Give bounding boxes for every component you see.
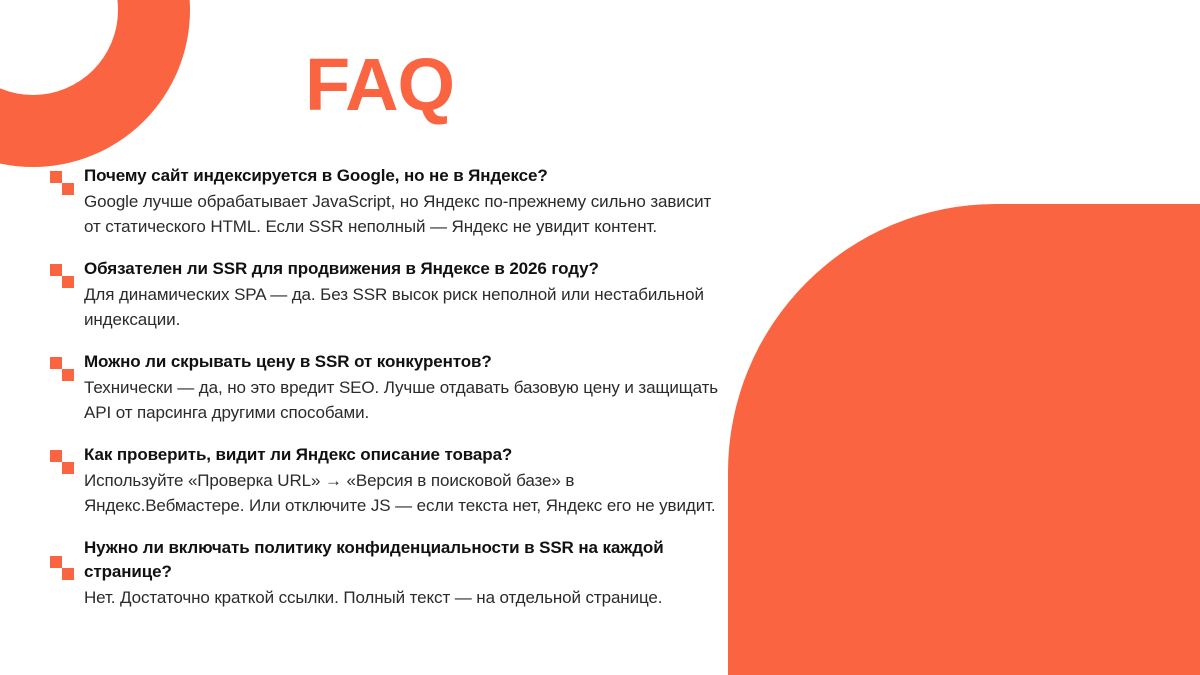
faq-item: Обязателен ли SSR для продвижения в Янде… xyxy=(48,257,728,332)
faq-item: Как проверить, видит ли Яндекс описание … xyxy=(48,443,728,518)
double-square-bullet-icon xyxy=(50,556,76,582)
faq-answer: Используйте «Проверка URL» → «Версия в п… xyxy=(84,468,728,518)
faq-question: Почему сайт индексируется в Google, но н… xyxy=(84,164,728,188)
faq-question: Нужно ли включать политику конфиденциаль… xyxy=(84,536,728,584)
faq-question: Как проверить, видит ли Яндекс описание … xyxy=(84,443,728,467)
double-square-bullet-icon xyxy=(50,357,76,383)
faq-item: Почему сайт индексируется в Google, но н… xyxy=(48,164,728,239)
double-square-bullet-icon xyxy=(50,450,76,476)
faq-answer: Технически — да, но это вредит SEO. Лучш… xyxy=(84,375,728,425)
faq-question: Обязателен ли SSR для продвижения в Янде… xyxy=(84,257,728,281)
page-title: FAQ xyxy=(305,48,454,122)
double-square-bullet-icon xyxy=(50,171,76,197)
faq-item: Нужно ли включать политику конфиденциаль… xyxy=(48,536,728,610)
rounded-blob-decoration-icon xyxy=(728,204,1200,675)
faq-answer: Для динамических SPA — да. Без SSR высок… xyxy=(84,282,728,332)
faq-answer: Google лучше обрабатывает JavaScript, но… xyxy=(84,189,728,239)
faq-list: Почему сайт индексируется в Google, но н… xyxy=(48,164,728,610)
faq-slide: FAQ Почему сайт индексируется в Google, … xyxy=(0,0,1200,675)
double-square-bullet-icon xyxy=(50,264,76,290)
ring-decoration-icon xyxy=(0,0,190,167)
faq-question: Можно ли скрывать цену в SSR от конкурен… xyxy=(84,350,728,374)
faq-answer: Нет. Достаточно краткой ссылки. Полный т… xyxy=(84,585,728,610)
faq-item: Можно ли скрывать цену в SSR от конкурен… xyxy=(48,350,728,425)
